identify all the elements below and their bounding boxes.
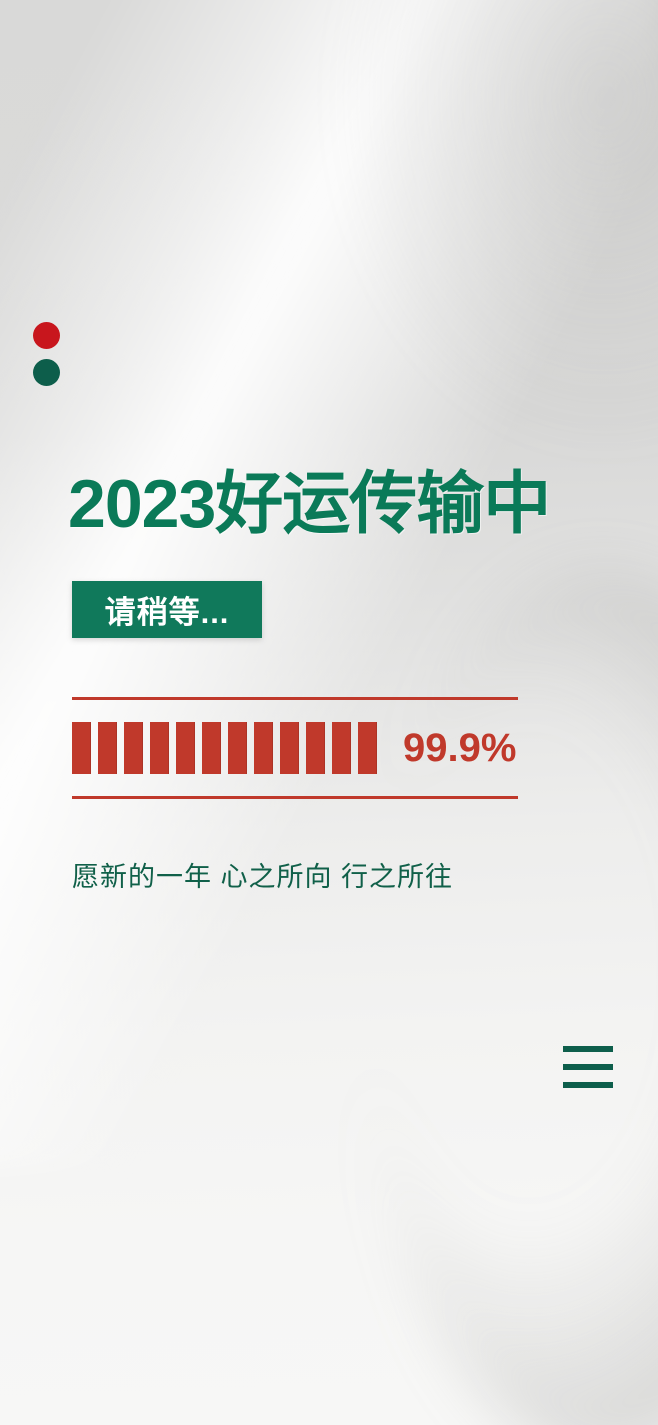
progress-segment	[98, 722, 117, 774]
status-dots	[33, 322, 60, 386]
progress-block: 99.9%	[72, 697, 518, 799]
poster-canvas: 2023好运传输中 请稍等...	[0, 0, 658, 1425]
progress-segments	[72, 722, 377, 774]
please-wait-badge: 请稍等...	[72, 581, 262, 638]
progress-percent-label: 99.9%	[403, 728, 516, 768]
hamburger-menu-icon[interactable]	[563, 1043, 613, 1091]
progress-segment	[254, 722, 273, 774]
progress-rule-bottom	[72, 796, 518, 799]
progress-segment	[280, 722, 299, 774]
progress-segment	[332, 722, 351, 774]
hamburger-line-bottom	[563, 1082, 613, 1088]
page-title: 2023好运传输中	[68, 470, 550, 538]
hamburger-line-middle	[563, 1064, 613, 1070]
red-dot	[33, 322, 60, 349]
hamburger-line-top	[563, 1046, 613, 1052]
progress-segment	[306, 722, 325, 774]
progress-segment	[124, 722, 143, 774]
wish-text: 愿新的一年 心之所向 行之所往	[72, 855, 453, 894]
progress-segment	[72, 722, 91, 774]
green-dot	[33, 359, 60, 386]
progress-segment	[358, 722, 377, 774]
progress-segment	[176, 722, 195, 774]
progress-segment	[202, 722, 221, 774]
progress-gauge-row: 99.9%	[72, 700, 518, 796]
progress-segment	[228, 722, 247, 774]
progress-segment	[150, 722, 169, 774]
poster-content: 2023好运传输中 请稍等...	[0, 0, 658, 1425]
